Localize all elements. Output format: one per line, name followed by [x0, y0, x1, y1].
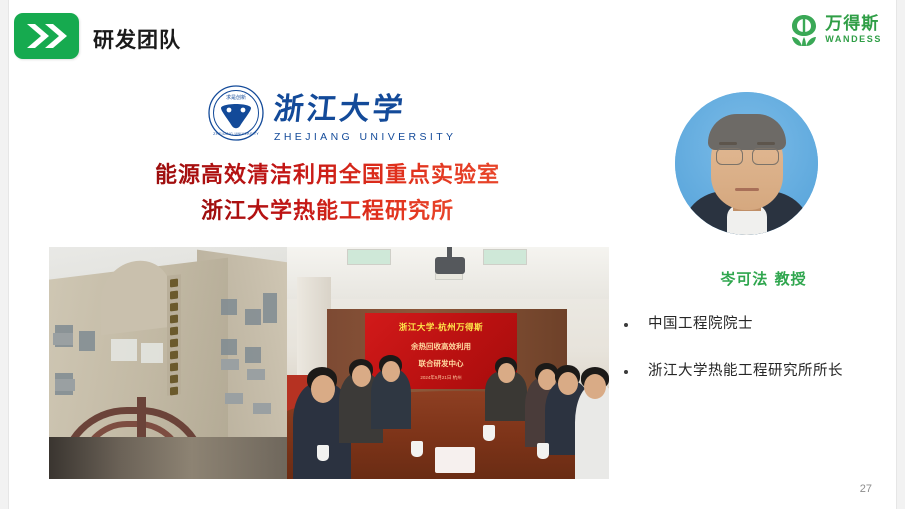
headline-line-2: 浙江大学热能工程研究所 [201, 194, 454, 230]
svg-text:求是创新: 求是创新 [226, 94, 246, 101]
ceiling-projector-icon [435, 257, 465, 274]
brand-name-en: WANDESS [825, 35, 882, 44]
slide-header: 研发团队 万得斯 WANDESS [9, 0, 896, 70]
svg-text:ZHEJIANG UNIVERSITY: ZHEJIANG UNIVERSITY [213, 132, 259, 136]
list-item: 中国工程院院士 [624, 313, 896, 336]
headline-line-1: 能源高效清洁利用全国重点实验室 [155, 158, 500, 194]
zhejiang-university-logo: 求是创新 ZHEJIANG UNIVERSITY 浙江大学 ZHEJIANG U… [207, 82, 447, 144]
bullet-text: 浙江大学热能工程研究所所长 [648, 360, 843, 383]
page-title: 研发团队 [93, 24, 181, 54]
university-name-cn: 浙江大学 [272, 84, 459, 128]
bullet-dot-icon [624, 323, 628, 327]
slide-canvas: 研发团队 万得斯 WANDESS [8, 0, 897, 509]
photo-strip: 浙江大学-杭州万得斯 余热回收高效利用 联合研发中心 2024年5月21日 杭州 [49, 247, 609, 479]
brand-logo: 万得斯 WANDESS [788, 10, 882, 50]
building-vertical-signage [167, 274, 181, 395]
brand-name-cn: 万得斯 [825, 16, 882, 33]
wandess-leaf-logo [788, 13, 820, 47]
bullet-text: 中国工程院院士 [648, 313, 753, 336]
bullet-dot-icon [624, 370, 628, 374]
professor-name: 岑可法 教授 [629, 268, 897, 289]
page-number: 27 [860, 483, 872, 495]
lab-headline: 能源高效清洁利用全国重点实验室 浙江大学热能工程研究所 [45, 158, 610, 230]
screen-title-line-2: 余热回收高效利用 [365, 341, 517, 352]
laboratory-building-photo [49, 247, 287, 479]
zhejiang-university-seal-icon: 求是创新 ZHEJIANG UNIVERSITY [207, 84, 265, 142]
university-name-en: ZHEJIANG UNIVERSITY [274, 131, 456, 143]
professor-portrait-photo [675, 92, 818, 235]
profile-bullet-list: 中国工程院院士 浙江大学热能工程研究所所长 [624, 313, 896, 407]
joint-rd-center-meeting-photo: 浙江大学-杭州万得斯 余热回收高效利用 联合研发中心 2024年5月21日 杭州 [287, 247, 609, 479]
double-chevron-right-icon [14, 13, 79, 59]
screen-title-line-1: 浙江大学-杭州万得斯 [365, 321, 517, 333]
list-item: 浙江大学热能工程研究所所长 [624, 360, 896, 383]
